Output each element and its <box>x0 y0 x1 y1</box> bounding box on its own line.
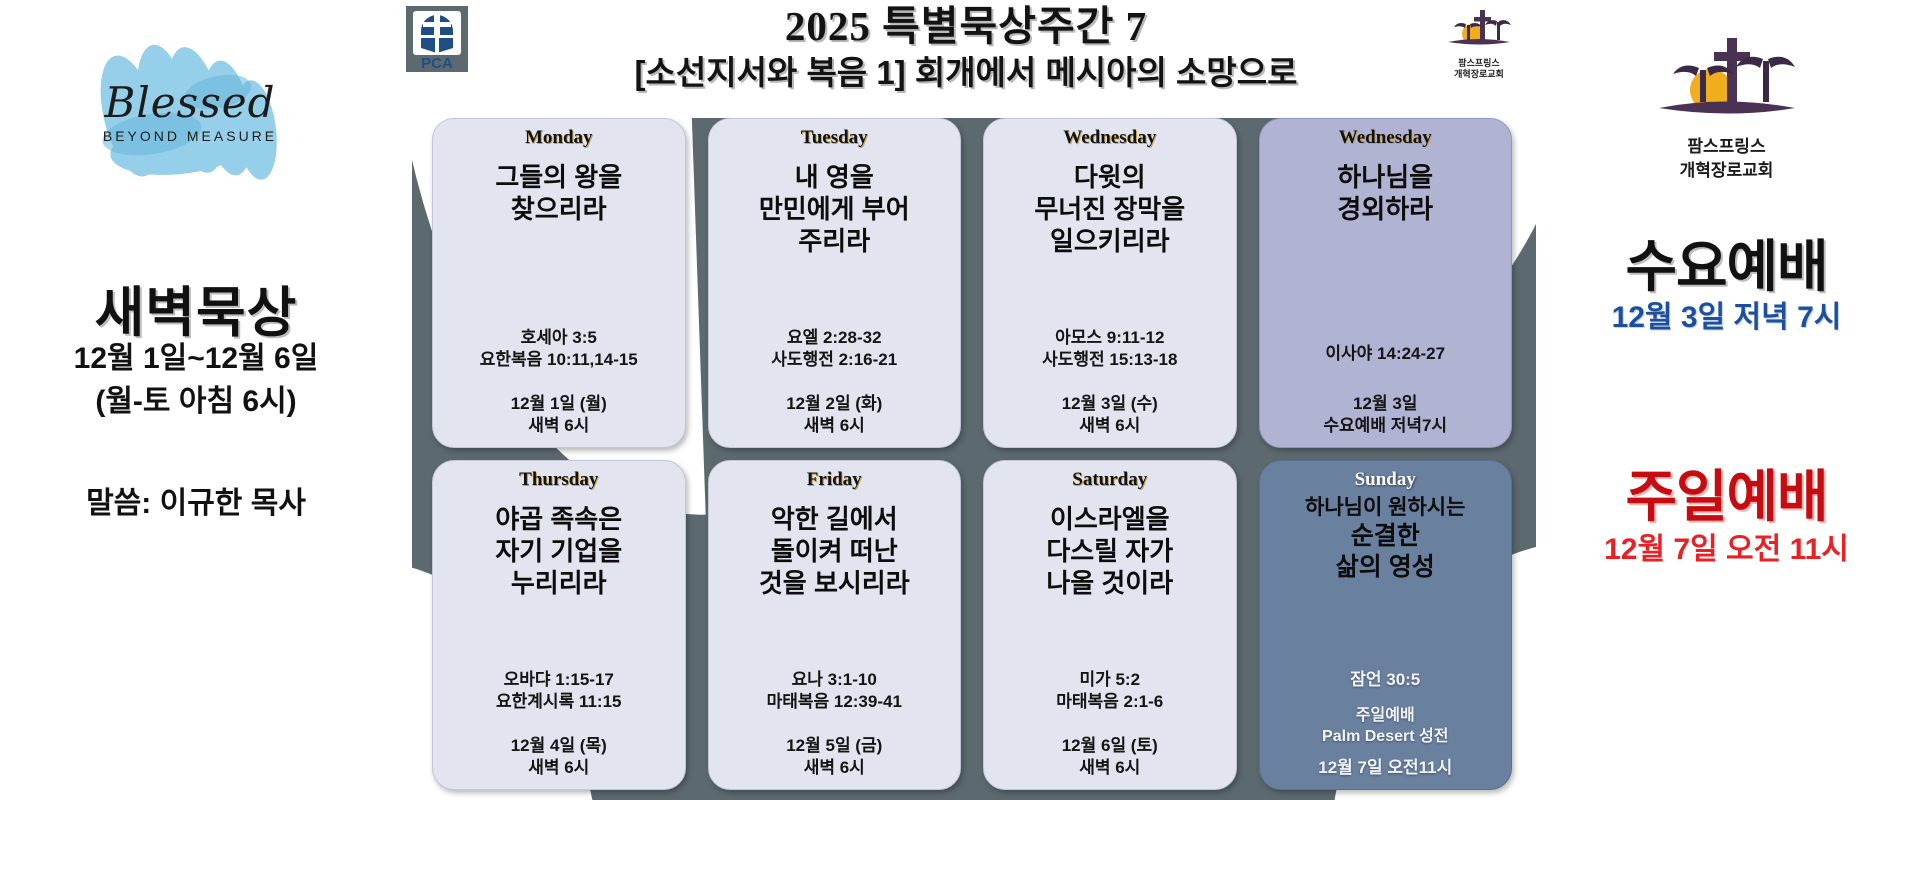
poster-header: PCA 2025 특별묵상주간 7 [소선지서와 복음 1] 회개에서 메시아의… <box>396 0 1536 120</box>
card-theme-line3: 나올 것이라 <box>1046 567 1173 599</box>
card-theme-line3: 주리라 <box>759 225 910 257</box>
card-when: 12월 4일 (목) 새벽 6시 <box>511 735 607 779</box>
card-venue: 주일예배 Palm Desert 성전 <box>1322 705 1448 747</box>
page-title: 2025 특별묵상주간 7 <box>396 2 1536 50</box>
svg-text:PCA: PCA <box>421 55 453 72</box>
card-theme-line1: 내 영을 <box>759 161 910 193</box>
card-theme: 내 영을 만민에게 부어 주리라 <box>759 161 910 258</box>
card-theme: 그들의 왕을 찾으리라 <box>495 161 622 225</box>
card-theme-line3: 일으키리라 <box>1034 225 1185 257</box>
card-theme-line1: 그들의 왕을 <box>495 161 622 193</box>
card-reference-2: 요한계시록 11:15 <box>496 691 621 713</box>
blessed-script-text: Blessed <box>60 82 320 124</box>
card-reference-2: 마태복음 12:39-41 <box>767 691 902 713</box>
card-theme-line1: 순결한 <box>1305 521 1465 552</box>
card-theme-line2: 자기 기업을 <box>495 535 622 567</box>
card-theme: 이스라엘을 다스릴 자가 나올 것이라 <box>1046 503 1173 600</box>
card-theme-line1: 야곱 족속은 <box>495 503 622 535</box>
schedule-card-wednesday-dawn[interactable]: Wednesday 다윗의 무너진 장막을 일으키리라 아모스 9:11-12 … <box>983 118 1237 448</box>
card-when-line2: 새벽 6시 <box>511 757 607 779</box>
card-theme-line2: 돌이켜 떠난 <box>759 535 910 567</box>
schedule-card-wednesday-service[interactable]: Wednesday 하나님을 경외하라 이사야 14:24-27 12월 3일 … <box>1259 118 1513 448</box>
card-theme-line1: 하나님을 <box>1337 161 1433 193</box>
card-theme: 하나님을 경외하라 <box>1337 161 1433 225</box>
speaker-label: 말씀: 이규한 목사 <box>0 478 392 522</box>
schedule-card-tuesday[interactable]: Tuesday 내 영을 만민에게 부어 주리라 요엘 2:28-32 사도행전… <box>708 118 962 448</box>
card-when: 12월 3일 (수) 새벽 6시 <box>1062 393 1158 437</box>
church-logo-small-line2: 개혁장로교회 <box>1436 69 1522 79</box>
page-subtitle: [소선지서와 복음 1] 회개에서 메시아의 소망으로 <box>396 52 1536 93</box>
card-when: 12월 2일 (화) 새벽 6시 <box>786 393 882 437</box>
card-theme: 야곱 족속은 자기 기업을 누리리라 <box>495 503 622 600</box>
dawn-devotion-dates-line1: 12월 1일~12월 6일 <box>0 338 392 381</box>
card-reference-1: 요나 3:1-10 <box>767 669 902 691</box>
card-reference-1: 미가 5:2 <box>1056 669 1163 691</box>
card-when-line1: 12월 2일 (화) <box>786 393 882 415</box>
dawn-devotion-dates-line2: (월-토 아침 6시) <box>0 381 392 424</box>
card-theme-line2: 다스릴 자가 <box>1046 535 1173 567</box>
dawn-devotion-title: 새벽묵상 <box>0 268 392 347</box>
poster-canvas: PCA 2025 특별묵상주간 7 [소선지서와 복음 1] 회개에서 메시아의… <box>0 0 1913 800</box>
card-when: 12월 7일 오전11시 <box>1318 757 1452 779</box>
card-theme-line1: 이스라엘을 <box>1046 503 1173 535</box>
card-reference-2: 요한복음 10:11,14-15 <box>480 349 638 371</box>
card-day-label: Sunday <box>1355 469 1416 491</box>
card-reference-1: 오바댜 1:15-17 <box>496 669 621 691</box>
card-reference-2: 사도행전 15:13-18 <box>1042 349 1177 371</box>
card-day-label: Monday <box>525 127 593 149</box>
card-reference-1: 요엘 2:28-32 <box>771 327 897 349</box>
card-when-line1: 12월 6일 (토) <box>1062 735 1158 757</box>
card-theme-line1: 다윗의 <box>1034 161 1185 193</box>
card-when-line2: 새벽 6시 <box>1062 757 1158 779</box>
card-theme-line2: 찾으리라 <box>495 193 622 225</box>
card-theme: 하나님이 원하시는 순결한 삶의 영성 <box>1305 495 1465 583</box>
card-reference-1: 잠언 30:5 <box>1350 669 1420 691</box>
card-reference-2: 사도행전 2:16-21 <box>771 349 897 371</box>
blessed-beyond-measure-badge: Blessed BEYOND MEASURE <box>60 38 320 188</box>
left-panel: Blessed BEYOND MEASURE 새벽묵상 12월 1일~12월 6… <box>0 0 392 800</box>
card-references: 미가 5:2 마태복음 2:1-6 <box>1056 669 1163 713</box>
card-when-line1: 12월 1일 (월) <box>511 393 607 415</box>
card-when: 12월 3일 수요예배 저녁7시 <box>1323 393 1447 437</box>
card-day-label: Wednesday <box>1063 127 1156 149</box>
card-reference-1: 호세아 3:5 <box>480 327 638 349</box>
beyond-measure-text: BEYOND MEASURE <box>60 128 320 144</box>
card-references: 요나 3:1-10 마태복음 12:39-41 <box>767 669 902 713</box>
card-reference-2: 마태복음 2:1-6 <box>1056 691 1163 713</box>
card-when: 12월 1일 (월) 새벽 6시 <box>511 393 607 437</box>
sunday-service-when: 12월 7일 오전 11시 <box>1540 524 1913 568</box>
card-when: 12월 6일 (토) 새벽 6시 <box>1062 735 1158 779</box>
schedule-card-saturday[interactable]: Saturday 이스라엘을 다스릴 자가 나올 것이라 미가 5:2 마태복음… <box>983 460 1237 790</box>
dawn-devotion-dates: 12월 1일~12월 6일 (월-토 아침 6시) <box>0 338 392 423</box>
card-when-line1: 12월 4일 (목) <box>511 735 607 757</box>
card-theme-line3: 것을 보시리라 <box>759 567 910 599</box>
card-references: 아모스 9:11-12 사도행전 15:13-18 <box>1042 327 1177 371</box>
card-theme-line1: 악한 길에서 <box>759 503 910 535</box>
church-logo-small-line1: 팜스프링스 <box>1436 58 1522 68</box>
church-logo-small: 팜스프링스 개혁장로교회 <box>1436 4 1522 76</box>
church-logo-large-line1: 팜스프링스 <box>1540 136 1913 157</box>
card-venue-line2: Palm Desert 성전 <box>1322 726 1448 747</box>
card-references: 이사야 14:24-27 <box>1325 343 1445 365</box>
card-when: 12월 5일 (금) 새벽 6시 <box>786 735 882 779</box>
card-day-label: Wednesday <box>1339 127 1432 149</box>
card-references: 잠언 30:5 <box>1350 669 1420 691</box>
card-reference-1: 이사야 14:24-27 <box>1325 343 1445 365</box>
schedule-grid: Monday 그들의 왕을 찾으리라 호세아 3:5 요한복음 10:11,14… <box>432 118 1512 790</box>
schedule-card-sunday[interactable]: Sunday 하나님이 원하시는 순결한 삶의 영성 잠언 30:5 주일예배 … <box>1259 460 1513 790</box>
schedule-card-thursday[interactable]: Thursday 야곱 족속은 자기 기업을 누리리라 오바댜 1:15-17 … <box>432 460 686 790</box>
card-when-line2: 새벽 6시 <box>786 415 882 437</box>
card-references: 오바댜 1:15-17 요한계시록 11:15 <box>496 669 621 713</box>
sunday-service-title: 주일예배 <box>1540 452 1913 533</box>
card-theme-line3: 누리리라 <box>495 567 622 599</box>
schedule-card-friday[interactable]: Friday 악한 길에서 돌이켜 떠난 것을 보시리라 요나 3:1-10 마… <box>708 460 962 790</box>
church-logo-large: 팜스프링스 개혁장로교회 <box>1540 28 1913 182</box>
card-when-line2: 새벽 6시 <box>511 415 607 437</box>
card-day-label: Friday <box>807 469 862 491</box>
card-day-label: Saturday <box>1072 469 1147 491</box>
card-references: 호세아 3:5 요한복음 10:11,14-15 <box>480 327 638 371</box>
wednesday-service-when: 12월 3일 저녁 7시 <box>1540 292 1913 336</box>
card-when-line2: 수요예배 저녁7시 <box>1323 415 1447 437</box>
schedule-card-monday[interactable]: Monday 그들의 왕을 찾으리라 호세아 3:5 요한복음 10:11,14… <box>432 118 686 448</box>
card-theme-line2: 경외하라 <box>1337 193 1433 225</box>
card-reference-1: 아모스 9:11-12 <box>1042 327 1177 349</box>
card-when-line1: 12월 3일 (수) <box>1062 393 1158 415</box>
card-venue-line1: 주일예배 <box>1322 705 1448 726</box>
card-references: 요엘 2:28-32 사도행전 2:16-21 <box>771 327 897 371</box>
church-logo-large-line2: 개혁장로교회 <box>1540 160 1913 181</box>
card-when-line2: 새벽 6시 <box>786 757 882 779</box>
card-theme: 다윗의 무너진 장막을 일으키리라 <box>1034 161 1185 258</box>
header-titles: 2025 특별묵상주간 7 [소선지서와 복음 1] 회개에서 메시아의 소망으… <box>396 2 1536 94</box>
card-when-line2: 새벽 6시 <box>1062 415 1158 437</box>
wednesday-service-title: 수요예배 <box>1540 222 1913 303</box>
card-theme-lead: 하나님이 원하시는 <box>1305 495 1465 521</box>
card-day-label: Thursday <box>519 469 598 491</box>
card-theme-line2: 무너진 장막을 <box>1034 193 1185 225</box>
card-theme-line2: 삶의 영성 <box>1305 552 1465 583</box>
card-when-line1: 12월 3일 <box>1323 393 1447 415</box>
pca-logo-icon: PCA <box>406 6 468 72</box>
card-theme: 악한 길에서 돌이켜 떠난 것을 보시리라 <box>759 503 910 600</box>
right-panel: 팜스프링스 개혁장로교회 수요예배 12월 3일 저녁 7시 주일예배 12월 … <box>1540 0 1913 800</box>
card-day-label: Tuesday <box>801 127 868 149</box>
card-theme-line2: 만민에게 부어 <box>759 193 910 225</box>
card-when-line1: 12월 7일 오전11시 <box>1318 757 1452 779</box>
card-when-line1: 12월 5일 (금) <box>786 735 882 757</box>
